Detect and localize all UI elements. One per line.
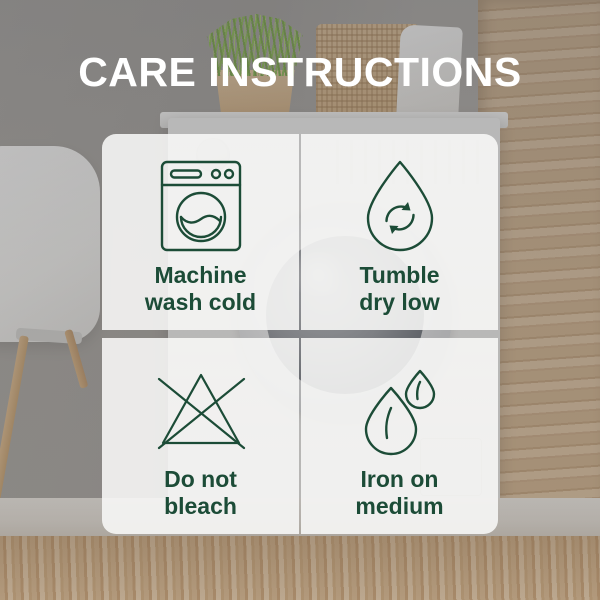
two-droplets-icon	[358, 358, 442, 462]
care-card-do-not-bleach[interactable]: Do not bleach	[102, 338, 299, 534]
care-card-label: Tumble dry low	[359, 262, 440, 316]
care-instructions-poster: CARE INSTRUCTIONS Machine wash cold	[0, 0, 600, 600]
triangle-crossed-out-icon	[151, 358, 251, 462]
care-card-label: Do not bleach	[164, 466, 237, 520]
droplet-recycle-icon	[358, 154, 442, 258]
care-symbol-grid: Machine wash cold Tumble dry low	[102, 134, 498, 534]
care-card-label: Iron on medium	[355, 466, 443, 520]
page-title: CARE INSTRUCTIONS	[0, 48, 600, 96]
care-card-iron-on-medium[interactable]: Iron on medium	[301, 338, 498, 534]
washing-machine-icon	[158, 154, 244, 258]
care-card-tumble-dry-low[interactable]: Tumble dry low	[301, 134, 498, 330]
care-card-machine-wash-cold[interactable]: Machine wash cold	[102, 134, 299, 330]
care-card-label: Machine wash cold	[145, 262, 256, 316]
